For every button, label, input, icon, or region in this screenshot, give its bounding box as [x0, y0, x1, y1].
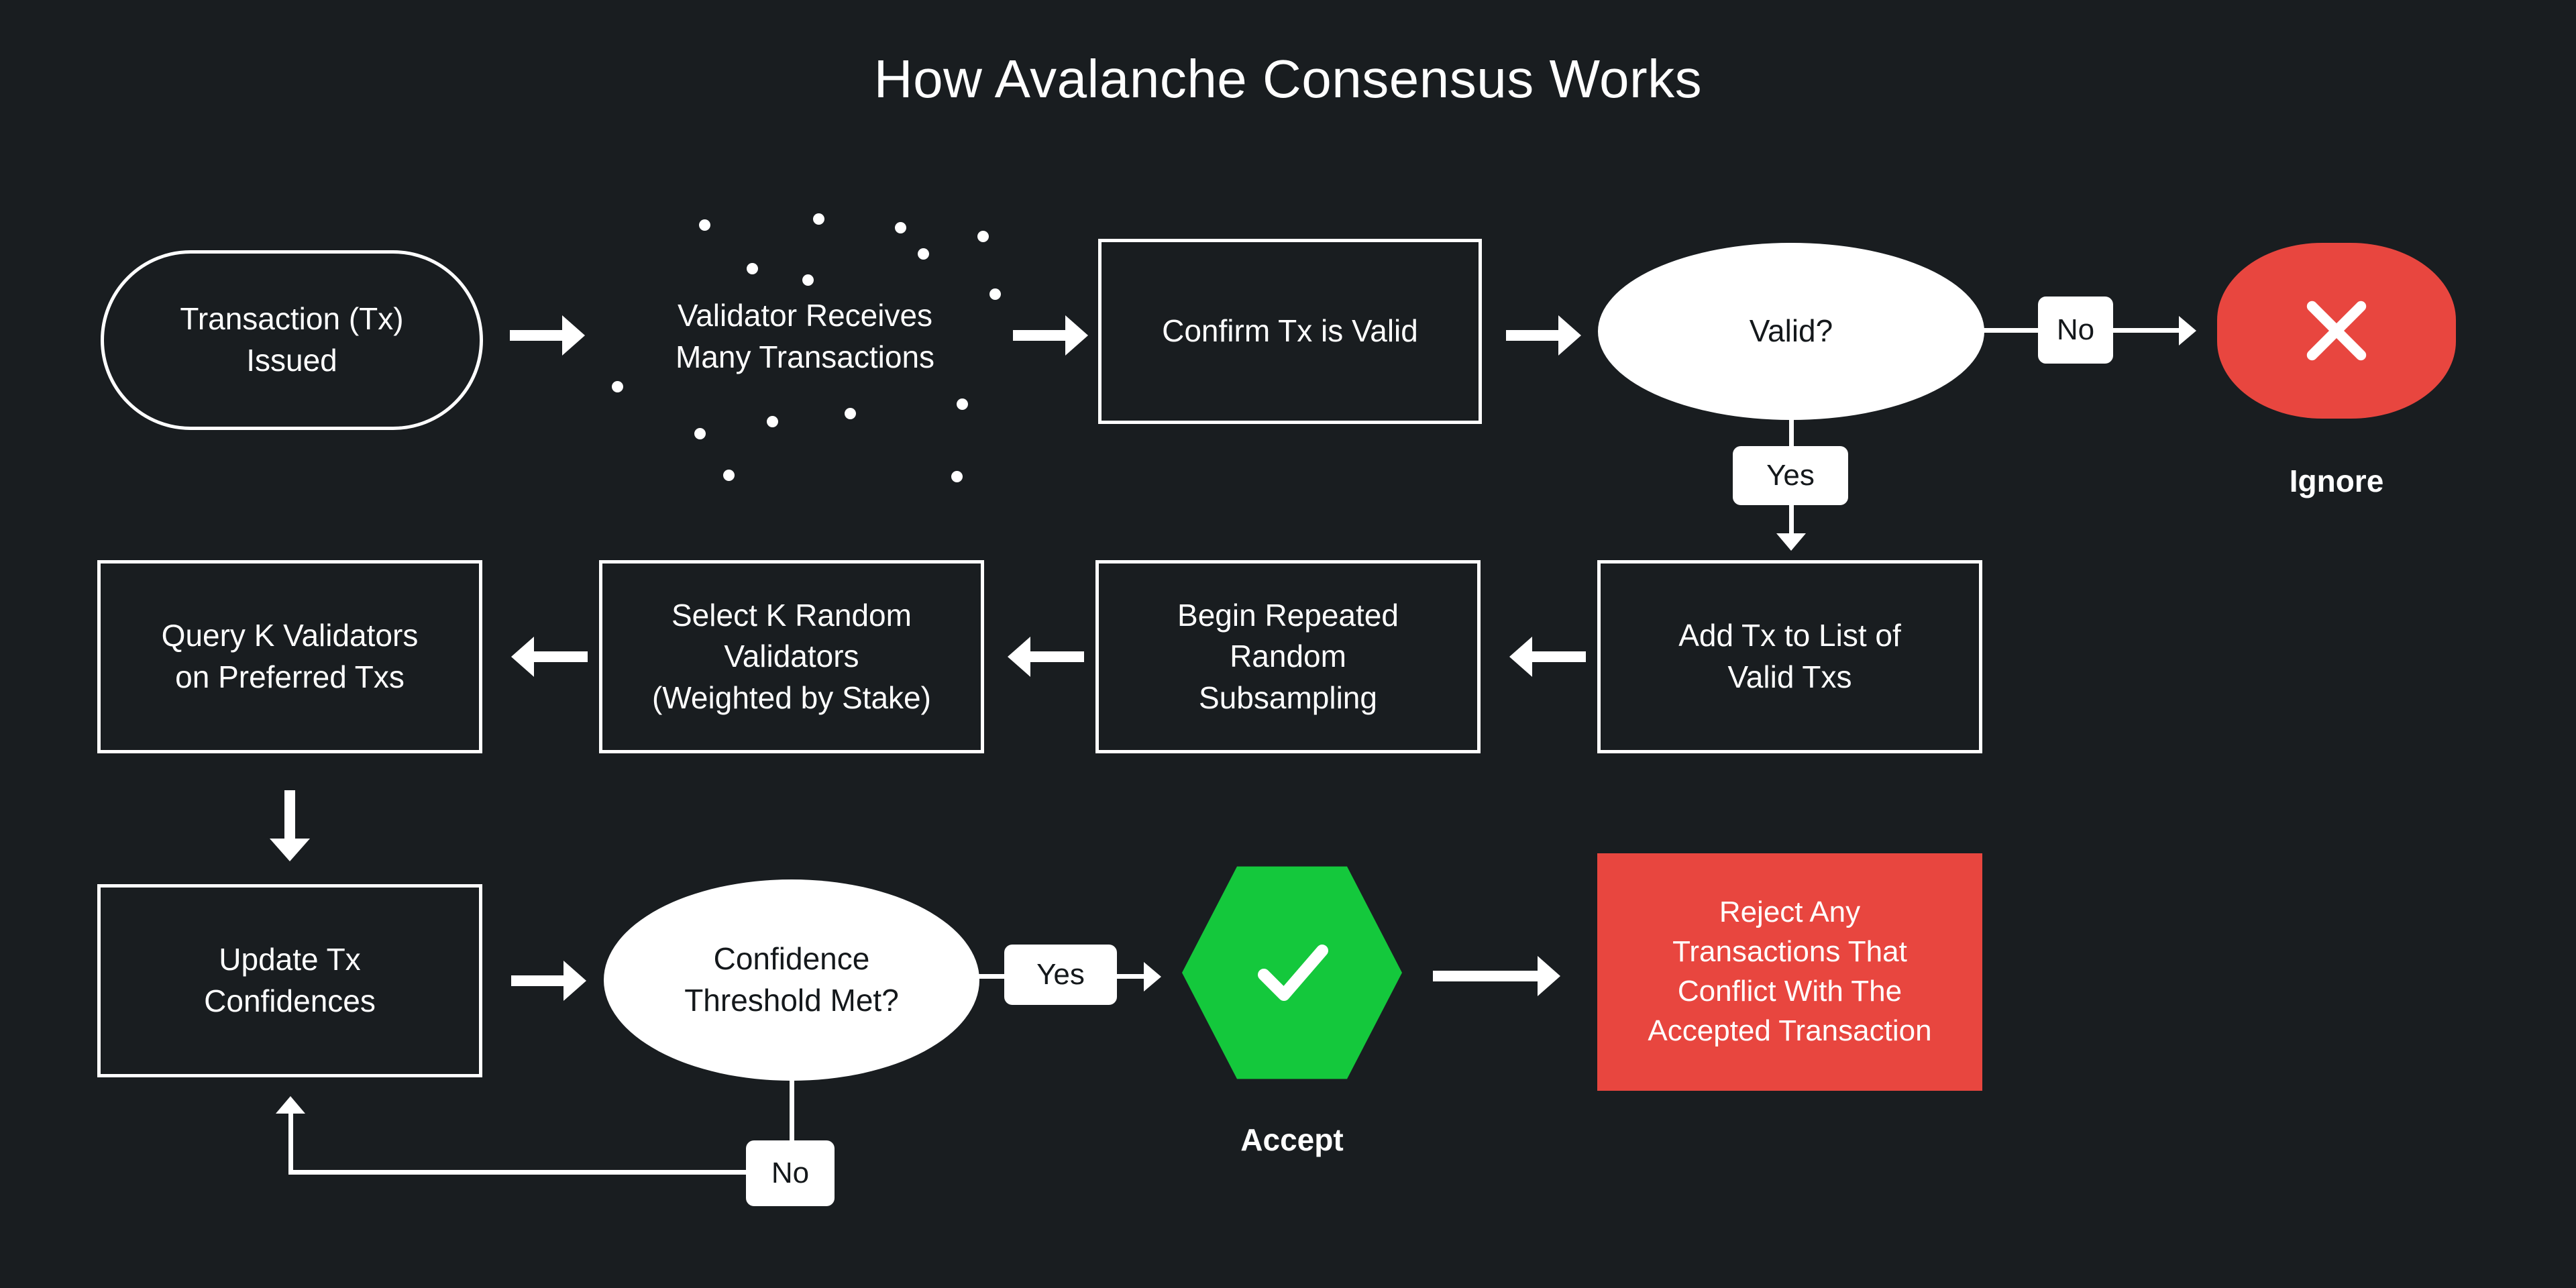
edge-accept-to-reject-shaft: [1433, 971, 1540, 981]
transaction-dot: [845, 408, 856, 419]
edge-confidence-no-shaft-down: [790, 1076, 794, 1150]
edge-label-confidence-yes: Yes: [1004, 945, 1117, 1005]
node-update-confidences-label: Update Tx Confidences: [204, 939, 376, 1022]
edge-label-confidence-yes-text: Yes: [1036, 958, 1085, 991]
transaction-dot: [612, 381, 623, 392]
check-icon: [1242, 922, 1342, 1023]
node-accept-caption: Accept: [1182, 1122, 1402, 1158]
edge-valid-no-head: [2179, 316, 2196, 345]
edge-confidence-yes-head: [1144, 962, 1161, 991]
transaction-dot: [918, 248, 929, 260]
transaction-dot: [699, 219, 710, 231]
transaction-dot: [747, 263, 758, 274]
node-valid-question[interactable]: Valid?: [1598, 243, 1984, 420]
node-add-tx-valid-list[interactable]: Add Tx to List of Valid Txs: [1597, 560, 1982, 753]
edge-valid-yes-shaft-bottom: [1789, 503, 1794, 535]
node-valid-question-label: Valid?: [1750, 311, 1833, 352]
edge-label-valid-yes: Yes: [1733, 446, 1848, 505]
transaction-dot: [813, 213, 824, 225]
edge-addtx-to-subsampling-head: [1509, 637, 1532, 677]
transaction-dot: [723, 470, 735, 481]
edge-label-confidence-no: No: [746, 1140, 835, 1206]
edge-confirm-to-valid-shaft: [1506, 330, 1560, 341]
transaction-dot: [694, 428, 706, 439]
transaction-dot: [767, 416, 778, 427]
node-select-k-validators-label: Select K Random Validators (Weighted by …: [652, 595, 931, 719]
node-confirm-tx-valid[interactable]: Confirm Tx is Valid: [1098, 239, 1482, 424]
node-select-k-validators[interactable]: Select K Random Validators (Weighted by …: [599, 560, 984, 753]
node-transaction-issued-label: Transaction (Tx) Issued: [180, 299, 403, 381]
edge-subsampling-to-selectk-shaft: [1030, 651, 1084, 662]
node-reject-conflicts-label: Reject Any Transactions That Conflict Wi…: [1648, 893, 1931, 1051]
edge-valid-yes-head: [1776, 533, 1806, 551]
node-ignore-badge[interactable]: [2217, 243, 2456, 419]
transaction-dot: [951, 471, 963, 482]
flowchart-canvas: How Avalanche Consensus Works Transactio…: [0, 0, 2576, 1288]
node-confidence-question[interactable]: Confidence Threshold Met?: [604, 879, 979, 1081]
x-icon: [2293, 287, 2380, 374]
edge-queryk-to-update-shaft: [284, 790, 295, 841]
node-begin-subsampling-label: Begin Repeated Random Subsampling: [1177, 595, 1399, 719]
node-add-tx-valid-list-label: Add Tx to List of Valid Txs: [1678, 615, 1901, 698]
edge-confidence-no-shaft-up: [288, 1114, 293, 1174]
page-title: How Avalanche Consensus Works: [0, 52, 2576, 106]
edge-validator-to-confirm-shaft: [1013, 330, 1067, 341]
edge-selectk-to-queryk-shaft: [534, 651, 588, 662]
edge-selectk-to-queryk-head: [511, 637, 534, 677]
node-validator-receives-label: Validator Receives Many Transactions: [590, 295, 1020, 378]
edge-label-valid-yes-text: Yes: [1766, 459, 1815, 492]
edge-confidence-no-shaft-horizontal: [288, 1170, 751, 1175]
node-query-k-validators-label: Query K Validators on Preferred Txs: [162, 615, 419, 698]
node-accept-badge[interactable]: [1182, 862, 1402, 1083]
edge-confidence-no-head: [276, 1096, 305, 1114]
edge-update-to-confidence-shaft: [511, 975, 565, 986]
edge-issued-to-validator-shaft: [510, 330, 563, 341]
node-confidence-question-label: Confidence Threshold Met?: [684, 938, 899, 1021]
edge-issued-to-validator-head: [562, 315, 585, 356]
node-update-confidences[interactable]: Update Tx Confidences: [97, 884, 482, 1077]
edge-validator-to-confirm-head: [1065, 315, 1088, 356]
node-begin-subsampling[interactable]: Begin Repeated Random Subsampling: [1095, 560, 1481, 753]
edge-addtx-to-subsampling-shaft: [1532, 651, 1586, 662]
transaction-dot: [957, 398, 968, 410]
edge-label-valid-no-text: No: [2057, 313, 2094, 347]
edge-label-valid-no: No: [2038, 297, 2113, 364]
edge-confidence-yes-shaft-right: [1114, 974, 1146, 979]
edge-label-confidence-no-text: No: [771, 1157, 809, 1190]
node-ignore-caption: Ignore: [2217, 463, 2456, 499]
node-transaction-issued[interactable]: Transaction (Tx) Issued: [101, 250, 483, 430]
edge-update-to-confidence-head: [563, 961, 586, 1001]
node-reject-conflicts[interactable]: Reject Any Transactions That Conflict Wi…: [1597, 853, 1982, 1091]
transaction-dot: [802, 274, 814, 286]
edge-valid-no-shaft-right: [2112, 328, 2180, 333]
edge-subsampling-to-selectk-head: [1008, 637, 1030, 677]
edge-queryk-to-update-head: [270, 839, 310, 861]
node-confirm-tx-valid-label: Confirm Tx is Valid: [1162, 311, 1418, 352]
transaction-dot: [977, 231, 989, 242]
edge-accept-to-reject-head: [1538, 956, 1560, 996]
transaction-dot: [895, 222, 906, 233]
edge-confirm-to-valid-head: [1558, 315, 1581, 356]
transaction-dot: [989, 288, 1001, 300]
node-query-k-validators[interactable]: Query K Validators on Preferred Txs: [97, 560, 482, 753]
